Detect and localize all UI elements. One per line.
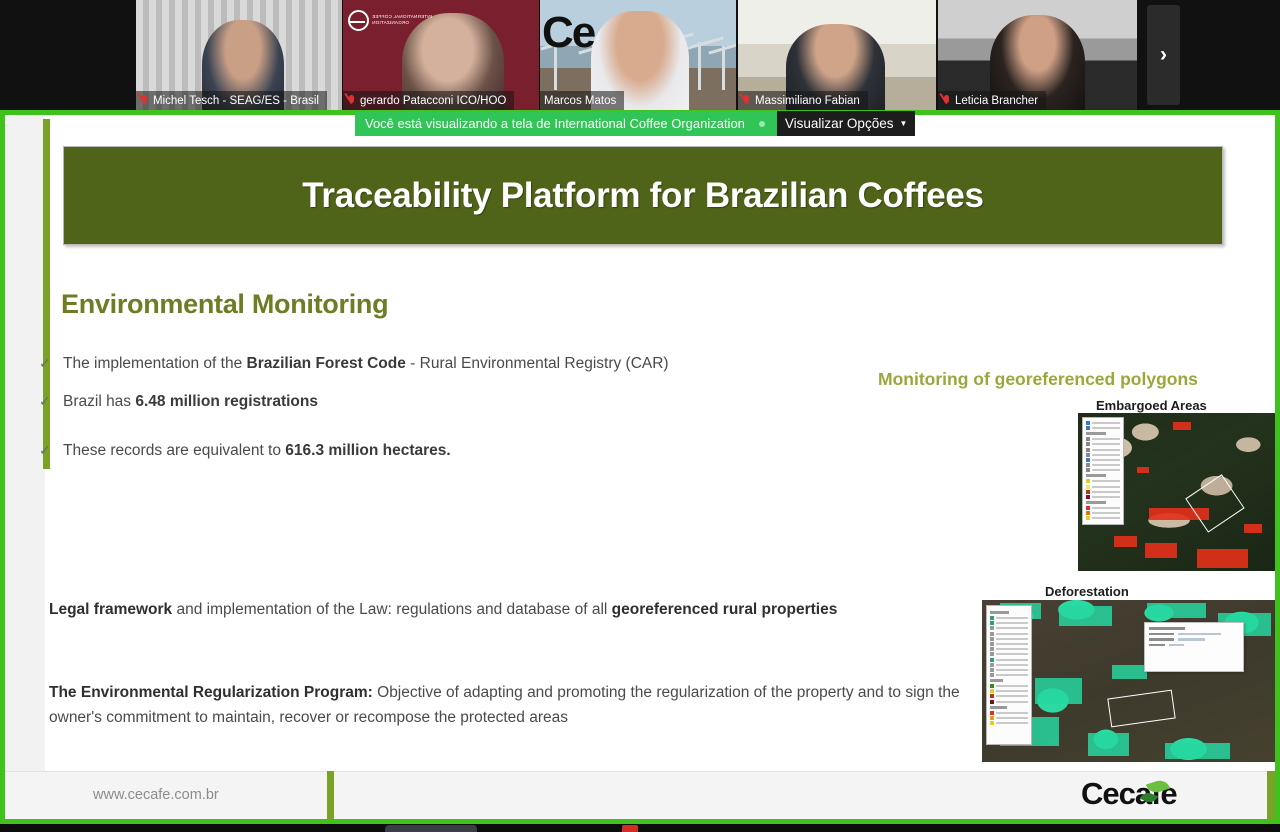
bullet-item: ✓ Brazil has 6.48 million registrations	[39, 393, 779, 411]
bullet-text: Brazil has 6.48 million registrations	[63, 393, 318, 411]
monitoring-title: Monitoring of georeferenced polygons	[878, 369, 1198, 390]
screen-share-bar: Você está visualizando a tela de Interna…	[355, 111, 915, 136]
taskbar-app-icon[interactable]	[622, 825, 638, 832]
check-icon: ✓	[39, 442, 51, 459]
mic-muted-icon	[742, 94, 751, 107]
mic-muted-icon	[942, 94, 951, 107]
bullet-text: The implementation of the Brazilian Fore…	[63, 355, 669, 373]
slide-title-banner: Traceability Platform for Brazilian Coff…	[63, 146, 1223, 245]
paragraph-regularization-program: The Environmental Regularization Program…	[49, 680, 964, 730]
ico-logo-ring	[348, 10, 369, 31]
view-options-label: Visualizar Opções	[785, 116, 894, 131]
footer-accent-bar-right	[1267, 771, 1275, 819]
participant-name-3: Marcos Matos	[544, 95, 616, 107]
taskbar-window-button[interactable]	[385, 825, 477, 832]
screen: Michel Tesch - SEAG/ES - Brasil INTERNAT…	[0, 0, 1280, 832]
map-deforestation	[982, 600, 1275, 762]
map-label-deforestation: Deforestation	[1045, 584, 1129, 599]
mic-muted-icon	[140, 94, 149, 107]
bullet-item: ✓ These records are equivalent to 616.3 …	[39, 442, 779, 460]
check-icon: ✓	[39, 393, 51, 410]
video-filmstrip: Michel Tesch - SEAG/ES - Brasil INTERNAT…	[0, 0, 1280, 110]
presentation-slide: Traceability Platform for Brazilian Coff…	[5, 115, 1275, 819]
participant-name-chip-1: Michel Tesch - SEAG/ES - Brasil	[136, 91, 327, 110]
bullet-text: These records are equivalent to 616.3 mi…	[63, 442, 451, 460]
cecafe-watermark: Ce	[542, 8, 594, 58]
crane-icon	[722, 46, 725, 90]
check-icon: ✓	[39, 355, 51, 372]
video-tile-1[interactable]: Michel Tesch - SEAG/ES - Brasil	[136, 0, 342, 110]
participant-name-chip-2: gerardo Patacconi ICO/HOO	[343, 91, 514, 110]
video-tile-5[interactable]: Leticia Brancher	[938, 0, 1137, 110]
taskbar[interactable]	[0, 824, 1280, 832]
chevron-down-icon: ▼	[899, 119, 907, 128]
share-status-dot-icon	[759, 121, 765, 127]
shared-screen-frame: Traceability Platform for Brazilian Coff…	[0, 110, 1280, 824]
paragraph-legal-framework: Legal framework and implementation of th…	[49, 597, 949, 622]
bullet-item: ✓ The implementation of the Brazilian Fo…	[39, 355, 779, 373]
participant-name-1: Michel Tesch - SEAG/ES - Brasil	[153, 95, 319, 107]
share-status-message: Você está visualizando a tela de Interna…	[355, 111, 777, 136]
share-status-text: Você está visualizando a tela de Interna…	[365, 116, 745, 131]
participant-name-chip-4: Massimiliano Fabian	[738, 91, 868, 110]
mic-muted-icon	[347, 94, 356, 107]
participant-name-chip-3: Marcos Matos	[540, 91, 624, 110]
participant-name-4: Massimiliano Fabian	[755, 95, 860, 107]
video-tile-4[interactable]: Massimiliano Fabian	[738, 0, 936, 110]
participant-name-2: gerardo Patacconi ICO/HOO	[360, 95, 506, 107]
map-embargoed-areas	[1078, 413, 1275, 571]
footer-accent-bar	[327, 771, 334, 819]
map-legend	[986, 605, 1032, 745]
map-label-embargoed: Embargoed Areas	[1096, 398, 1207, 413]
map-legend	[1082, 417, 1124, 525]
chevron-right-icon[interactable]: ›	[1147, 5, 1180, 105]
ico-logo-text: INTERNATIONAL COFFEE ORGANIZATION	[372, 14, 443, 26]
ico-logo-icon: INTERNATIONAL COFFEE ORGANIZATION	[348, 5, 443, 35]
crane-icon	[698, 42, 701, 90]
participant-name-5: Leticia Brancher	[955, 95, 1038, 107]
video-tile-2[interactable]: INTERNATIONAL COFFEE ORGANIZATION gerard…	[343, 0, 539, 110]
bullet-list: ✓ The implementation of the Brazilian Fo…	[39, 355, 779, 460]
video-tile-3[interactable]: Ce Marcos Matos	[540, 0, 736, 110]
section-heading: Environmental Monitoring	[61, 289, 388, 320]
footer-url: www.cecafe.com.br	[93, 787, 219, 803]
view-options-button[interactable]: Visualizar Opções ▼	[777, 111, 915, 136]
participant-name-chip-5: Leticia Brancher	[938, 91, 1046, 110]
slide-title: Traceability Platform for Brazilian Coff…	[302, 176, 983, 216]
map-info-popup	[1144, 622, 1244, 672]
